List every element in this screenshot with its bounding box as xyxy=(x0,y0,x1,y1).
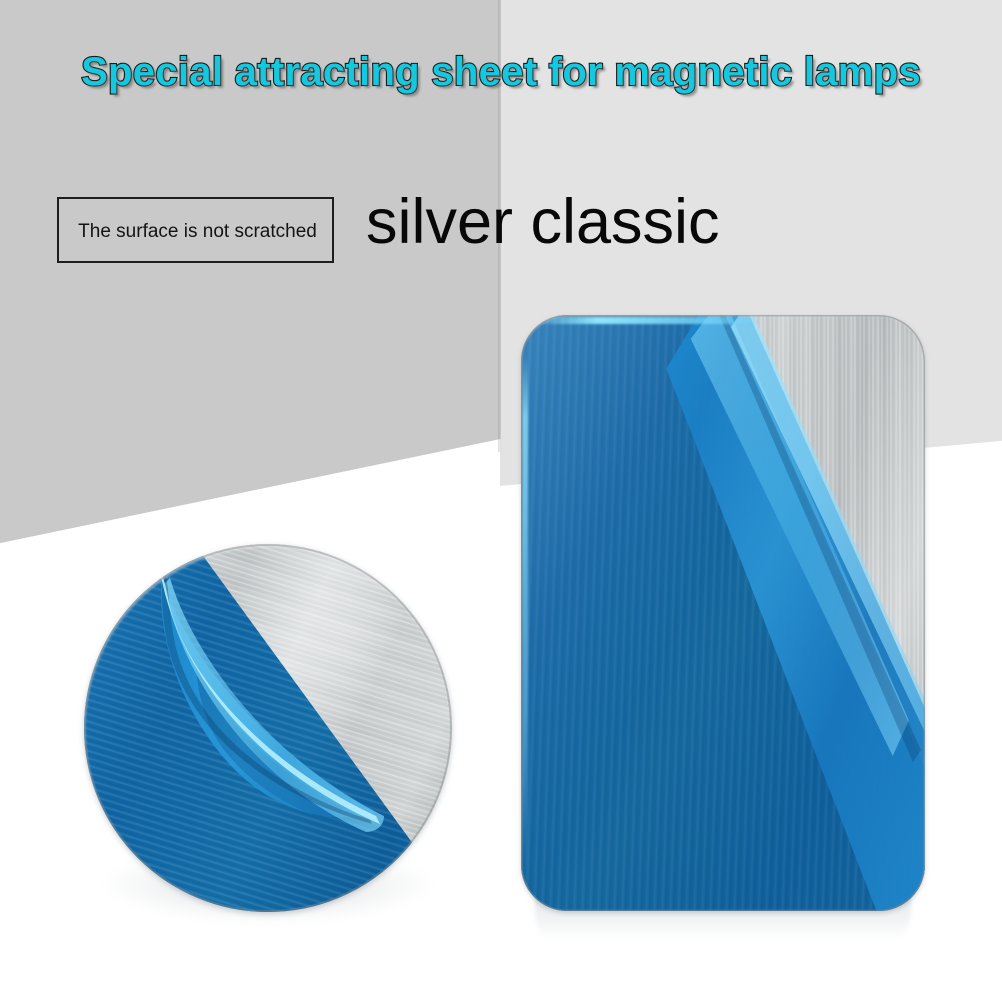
rectangular-sheet-body xyxy=(521,315,925,911)
tagline-box: The surface is not scratched xyxy=(57,197,334,263)
page-title: Special attracting sheet for magnetic la… xyxy=(0,50,1002,95)
circular-sheet-body xyxy=(84,544,452,912)
circular-sheet-product xyxy=(84,544,452,912)
rectangular-sheet-edge xyxy=(521,315,925,911)
circular-sheet-rim xyxy=(84,544,452,912)
page-subtitle: silver classic xyxy=(366,186,720,258)
product-banner: Special attracting sheet for magnetic la… xyxy=(0,0,1002,1002)
tagline-text: The surface is not scratched xyxy=(59,199,336,265)
rectangular-sheet-product xyxy=(521,315,925,911)
